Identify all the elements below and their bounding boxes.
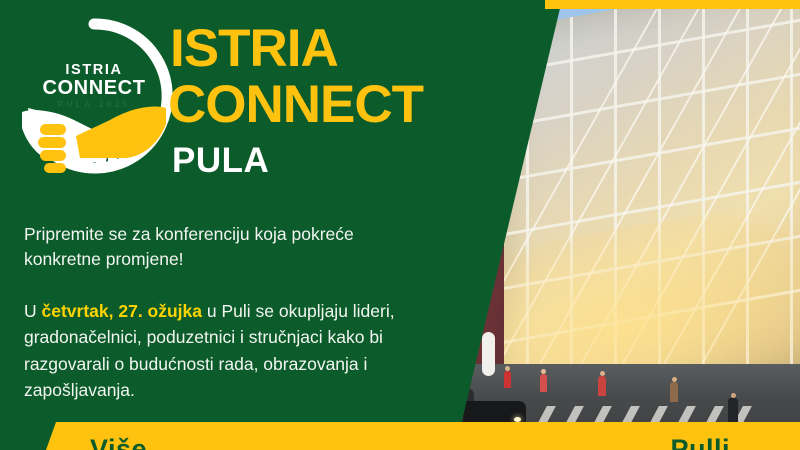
logo-mark: ISTRIA CONNECT PULA 2025 <box>14 16 174 176</box>
bottom-band-text: Više Pulli <box>0 434 800 450</box>
event-date-highlight: četvrtak, 27. ožujka <box>42 301 203 321</box>
inflatable-figure-b <box>482 332 495 376</box>
logo-line-istria: ISTRIA <box>14 63 174 78</box>
top-yellow-strip <box>545 0 800 9</box>
title-istria: ISTRIA <box>170 22 338 75</box>
title-connect: CONNECT <box>168 78 423 131</box>
band-text-left: Više <box>90 434 147 450</box>
details-paragraph: U četvrtak, 27. ožujka u Puli se okuplja… <box>24 298 416 404</box>
pedestrian <box>598 376 606 396</box>
title-pula: PULA <box>172 143 269 178</box>
pedestrian <box>728 398 738 424</box>
event-poster: idea CO. WOR KING <box>0 0 800 450</box>
pedestrian <box>670 382 678 402</box>
intro-paragraph: Pripremite se za konferenciju koja pokre… <box>24 222 416 272</box>
details-prefix: U <box>24 301 42 321</box>
logo-line-connect: CONNECT <box>14 78 174 99</box>
band-text-right: Pulli <box>670 434 730 450</box>
logo-line-pula-2025: PULA 2025 <box>14 100 174 109</box>
pedestrian <box>504 371 511 388</box>
body-copy: Pripremite se za konferenciju koja pokre… <box>24 222 416 404</box>
pedestrian <box>540 374 547 392</box>
